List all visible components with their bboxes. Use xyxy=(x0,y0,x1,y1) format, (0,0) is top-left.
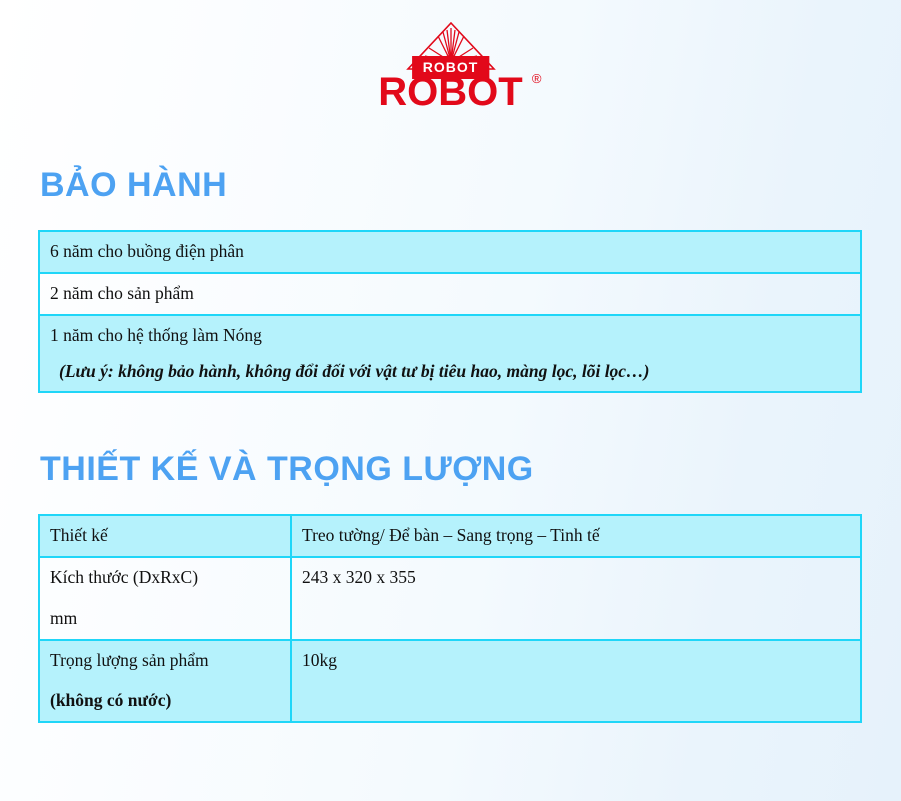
design-label-2-main: Kích thước (DxRxC) xyxy=(50,567,198,587)
design-label-1: Thiết kế xyxy=(39,515,291,557)
table-row: 1 năm cho hệ thống làm Nóng (Lưu ý: khôn… xyxy=(39,315,861,393)
design-label-3: Trọng lượng sản phẩm (không có nước) xyxy=(39,640,291,723)
warranty-table: 6 năm cho buồng điện phân 2 năm cho sản … xyxy=(38,230,862,393)
table-row: 6 năm cho buồng điện phân xyxy=(39,231,861,273)
logo-wordmark: ROBOT xyxy=(378,72,522,112)
design-value-1: Treo tường/ Để bàn – Sang trọng – Tinh t… xyxy=(291,515,861,557)
design-table: Thiết kế Treo tường/ Để bàn – Sang trọng… xyxy=(38,514,862,723)
warranty-cell-2: 2 năm cho sản phẩm xyxy=(39,273,861,315)
warranty-cell-3: 1 năm cho hệ thống làm Nóng (Lưu ý: khôn… xyxy=(39,315,861,393)
design-value-2: 243 x 320 x 355 xyxy=(291,557,861,640)
design-label-3-sub: (không có nước) xyxy=(50,672,280,713)
design-label-2-sub: mm xyxy=(50,590,280,631)
table-row: Thiết kế Treo tường/ Để bàn – Sang trọng… xyxy=(39,515,861,557)
warranty-note: (Lưu ý: không bảo hành, không đổi đối vớ… xyxy=(50,348,850,384)
brand-logo: ROBOT ROBOT ® xyxy=(0,22,901,112)
table-row: Trọng lượng sản phẩm (không có nước) 10k… xyxy=(39,640,861,723)
design-label-3-main: Trọng lượng sản phẩm xyxy=(50,650,209,670)
warranty-cell-3-main: 1 năm cho hệ thống làm Nóng xyxy=(50,325,262,345)
table-row: 2 năm cho sản phẩm xyxy=(39,273,861,315)
design-label-2: Kích thước (DxRxC) mm xyxy=(39,557,291,640)
table-row: Kích thước (DxRxC) mm 243 x 320 x 355 xyxy=(39,557,861,640)
design-value-3: 10kg xyxy=(291,640,861,723)
registered-trademark-icon: ® xyxy=(532,72,542,85)
warranty-cell-1: 6 năm cho buồng điện phân xyxy=(39,231,861,273)
section-heading-warranty: BẢO HÀNH xyxy=(40,166,227,204)
section-heading-design: THIẾT KẾ VÀ TRỌNG LƯỢNG xyxy=(40,450,534,488)
